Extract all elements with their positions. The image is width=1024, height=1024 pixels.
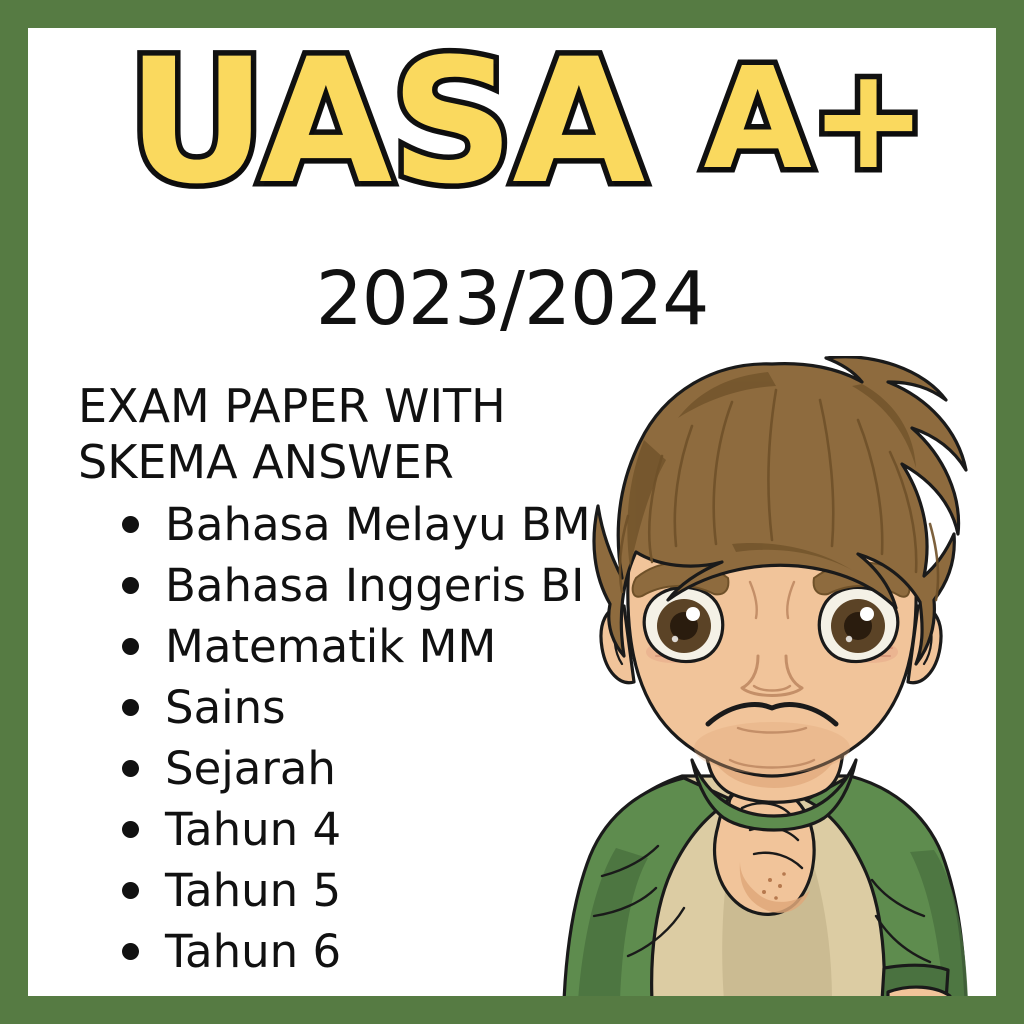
list-item: Tahun 4 xyxy=(78,801,618,858)
eye-left xyxy=(644,587,722,661)
bullet-icon xyxy=(122,943,139,960)
list-item: Matematik MM xyxy=(78,618,618,675)
academic-year-label: 2023/2024 xyxy=(28,256,996,342)
bullet-icon xyxy=(122,516,139,533)
list-item: Tahun 6 xyxy=(78,923,618,980)
headline-line-1: EXAM PAPER WITH xyxy=(78,378,618,434)
page-title: UASA xyxy=(127,36,643,208)
subject-label: Tahun 4 xyxy=(165,807,341,852)
subject-label: Bahasa Inggeris BI xyxy=(165,563,584,608)
poster-title-row: UASA A+ xyxy=(28,36,996,216)
poster-card: UASA A+ 2023/2024 EXAM PAPER WITH SKEMA … xyxy=(28,28,996,996)
bullet-icon xyxy=(122,638,139,655)
subject-label: Tahun 5 xyxy=(165,868,341,913)
subject-label: Sains xyxy=(165,685,286,730)
bullet-icon xyxy=(122,821,139,838)
list-item: Tahun 5 xyxy=(78,862,618,919)
list-item: Sains xyxy=(78,679,618,736)
headline-line-2: SKEMA ANSWER xyxy=(78,434,618,490)
subject-label: Matematik MM xyxy=(165,624,496,669)
grade-title: A+ xyxy=(703,50,925,190)
list-item: Sejarah xyxy=(78,740,618,797)
bullet-icon xyxy=(122,577,139,594)
bullet-icon xyxy=(122,699,139,716)
list-item: Bahasa Melayu BM xyxy=(78,496,618,553)
bullet-icon xyxy=(122,760,139,777)
list-item: Bahasa Inggeris BI xyxy=(78,557,618,614)
content-block: EXAM PAPER WITH SKEMA ANSWER Bahasa Mela… xyxy=(78,378,618,984)
bullet-icon xyxy=(122,882,139,899)
subject-label: Sejarah xyxy=(165,746,336,791)
subject-list: Bahasa Melayu BM Bahasa Inggeris BI Mate… xyxy=(78,496,618,980)
subject-label: Tahun 6 xyxy=(165,929,341,974)
poster-root: UASA A+ 2023/2024 EXAM PAPER WITH SKEMA … xyxy=(0,0,1024,1024)
subject-label: Bahasa Melayu BM xyxy=(165,502,591,547)
